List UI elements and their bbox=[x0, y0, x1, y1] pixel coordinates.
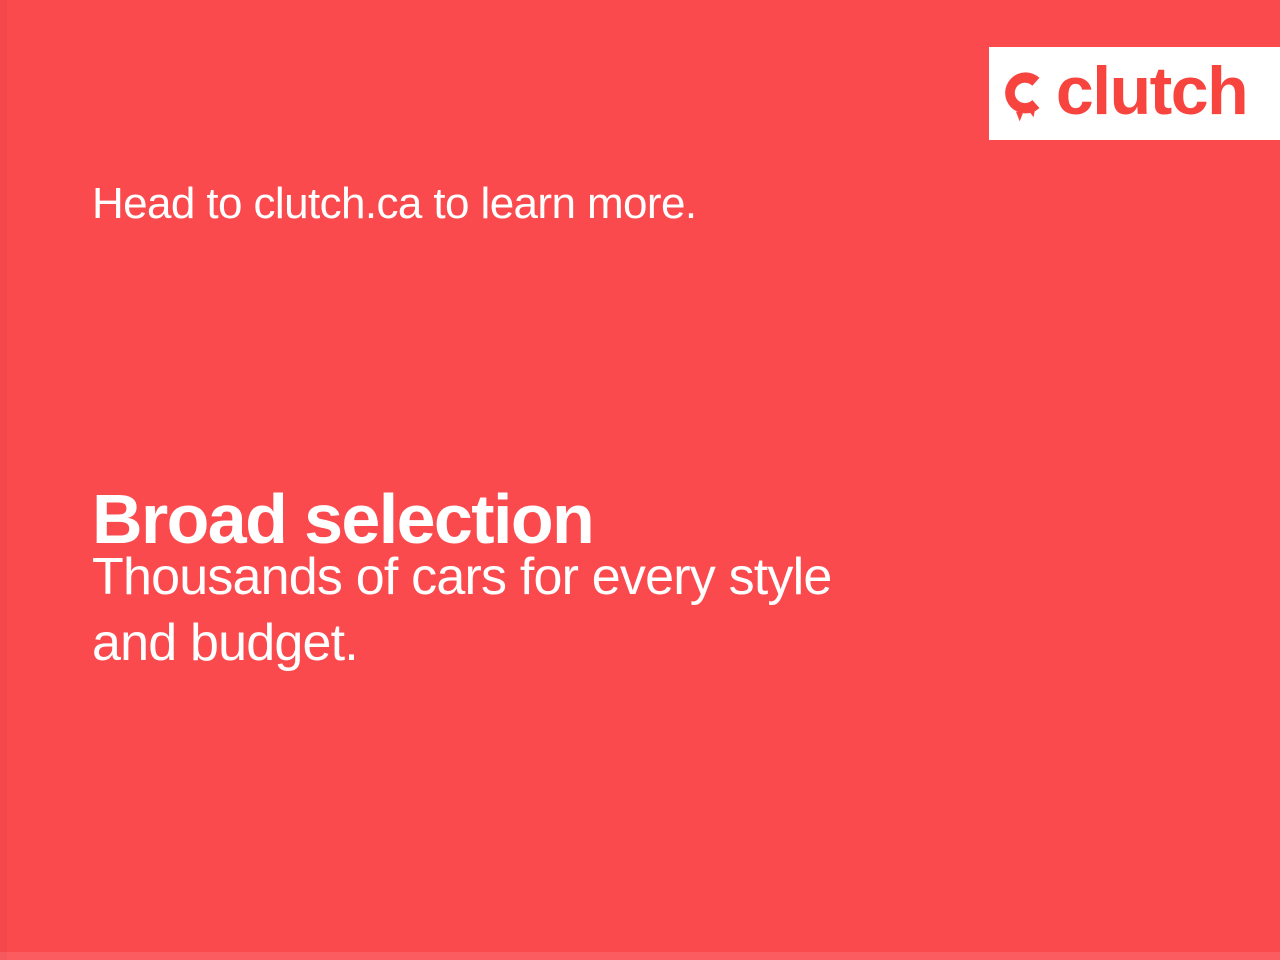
bottom-edge-strip bbox=[0, 952, 1280, 960]
clutch-wordmark: clutch bbox=[1056, 57, 1247, 125]
eyebrow-text: Head to clutch.ca to learn more. bbox=[92, 178, 696, 230]
clutch-c-mark-icon bbox=[996, 63, 1054, 125]
slide-canvas: clutch Head to clutch.ca to learn more. … bbox=[0, 0, 1280, 960]
clutch-logo-lockup: clutch bbox=[996, 63, 1247, 125]
left-edge-strip bbox=[0, 0, 7, 960]
logo-plate[interactable]: clutch bbox=[989, 47, 1280, 140]
subhead-line-1: Thousands of cars for every style bbox=[92, 545, 1072, 611]
subhead-line-2: and budget. bbox=[92, 611, 1072, 677]
subhead-text: Thousands of cars for every style and bu… bbox=[92, 545, 1072, 676]
